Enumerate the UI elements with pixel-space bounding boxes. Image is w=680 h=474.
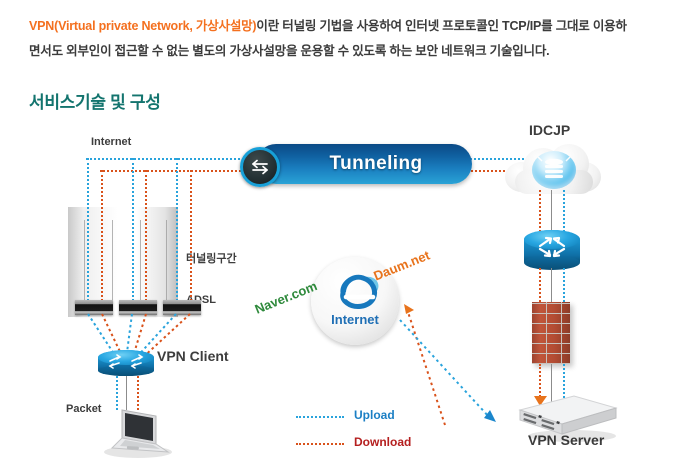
legend: Upload Download: [296, 408, 436, 453]
rack-server-icon: [512, 386, 622, 444]
cloud-icon: [505, 142, 601, 196]
tunneling-banner: Tunneling: [256, 144, 472, 184]
router-firewall-line: [551, 268, 552, 306]
upload-router-firewall-line: [563, 268, 565, 306]
internet-globe-label: Internet: [311, 312, 399, 327]
cloud-dome: [532, 151, 576, 189]
legend-item-upload: Upload: [296, 408, 436, 426]
upload-cloud-router-line: [563, 190, 565, 232]
download-cloud-router-line: [539, 190, 541, 232]
tunnel-rib: [166, 220, 167, 304]
legend-dash-upload: [296, 416, 344, 418]
tag-daum: Daum.net: [371, 247, 432, 283]
network-diagram: Internet 터널링구간 ADSL VPN Client Packet ID…: [0, 118, 680, 474]
tag-naver: Naver.com: [253, 278, 320, 317]
adsl-modem: [163, 300, 201, 315]
page-title: 서비스기술 및 구성: [29, 88, 161, 113]
legend-item-download: Download: [296, 435, 436, 453]
download-router-firewall-line: [539, 268, 541, 306]
adsl-modem: [119, 300, 157, 315]
adsl-modem: [75, 300, 113, 315]
legend-label-upload: Upload: [354, 408, 395, 422]
tunnel-rib: [84, 220, 85, 304]
upload-drop-line: [87, 158, 89, 301]
legend-dash-download: [296, 443, 344, 445]
download-drop-line: [101, 170, 103, 301]
download-drop-line: [190, 170, 192, 301]
laptop-icon: [96, 400, 176, 460]
tunneling-label: Tunneling: [306, 153, 423, 175]
label-idcjp: IDCJP: [529, 122, 570, 138]
download-drop-line: [145, 170, 147, 301]
tunnel-rib: [112, 220, 113, 304]
label-internet-left: Internet: [91, 136, 131, 148]
idc-router-icon: [524, 230, 580, 270]
label-tunnel-zone: 터널링구간: [186, 250, 237, 266]
brick-firewall-icon: [532, 302, 570, 364]
bidirectional-arrows-icon: [240, 147, 280, 187]
vpn-client-router-icon: [98, 350, 154, 376]
intro-paragraph: VPN(Virtual private Network, 가상사설망)이란 터널…: [29, 14, 634, 64]
upload-drop-line: [176, 158, 178, 301]
cloud-router-line: [551, 190, 552, 232]
legend-label-download: Download: [354, 435, 411, 449]
intro-highlight: VPN(Virtual private Network, 가상사설망): [29, 19, 256, 33]
tunnel-rib: [140, 220, 141, 304]
upload-drop-line: [132, 158, 134, 301]
